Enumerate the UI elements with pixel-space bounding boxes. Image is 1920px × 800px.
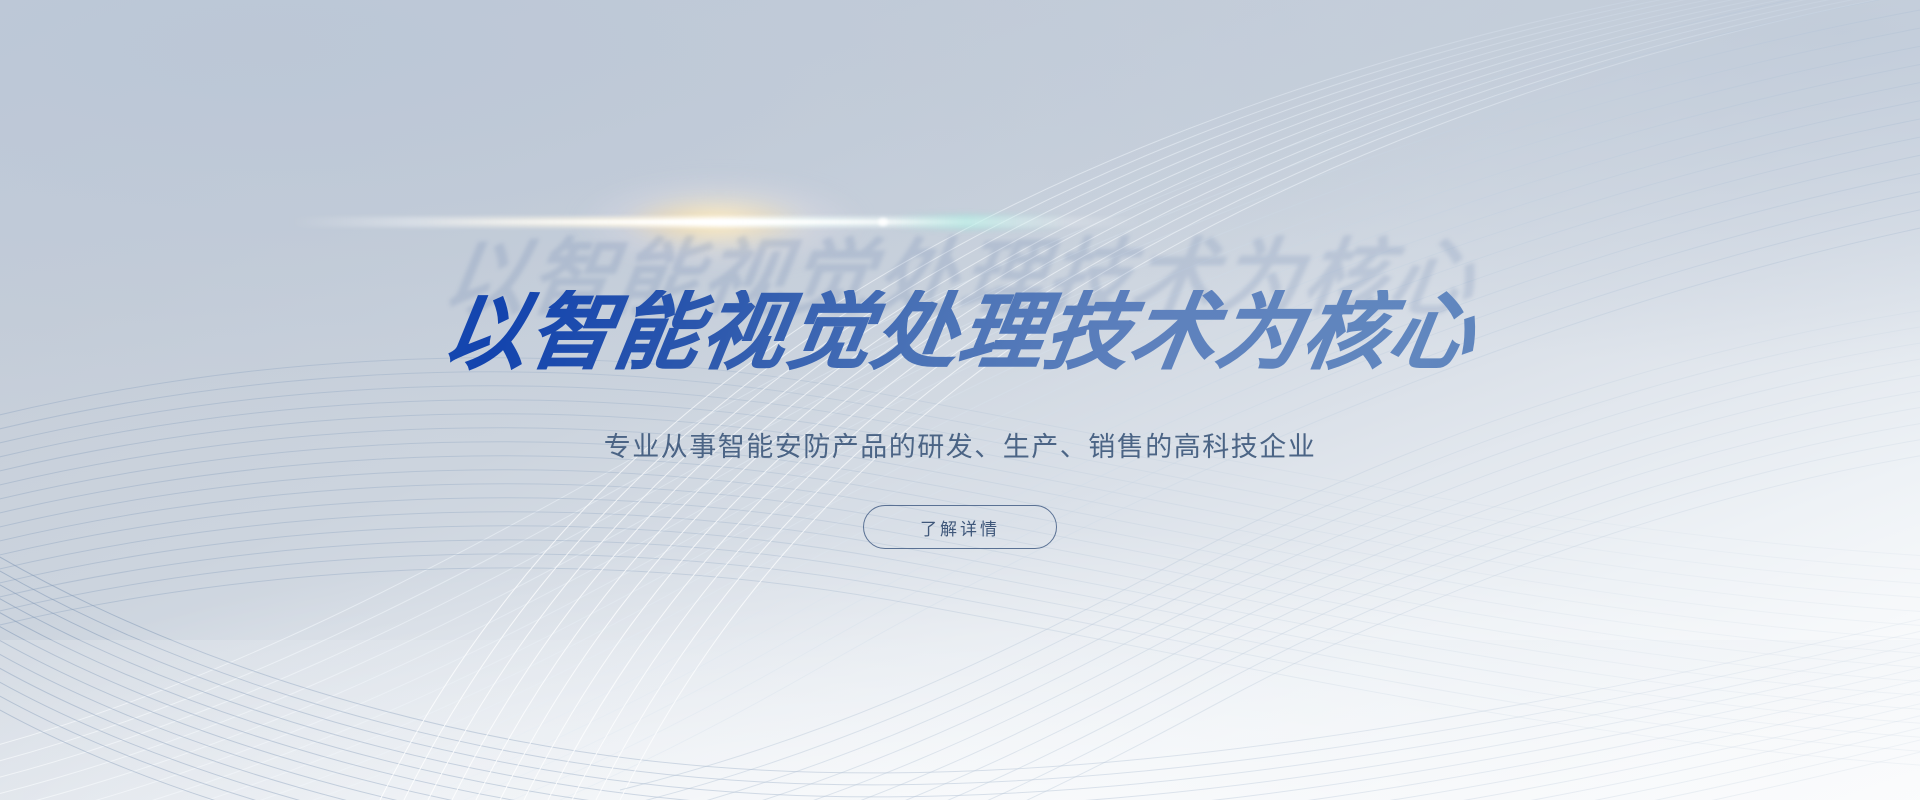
hero-banner: 以智能视觉处理技术为核心 以智能视觉处理技术为核心 专业从事智能安防产品的研发、… <box>0 0 1920 800</box>
hero-headline: 以智能视觉处理技术为核心 <box>0 290 1920 376</box>
hero-subtitle: 专业从事智能安防产品的研发、生产、销售的高科技企业 <box>0 425 1920 464</box>
wave-line-decoration <box>0 0 1920 800</box>
learn-more-button[interactable]: 了解详情 <box>863 505 1057 549</box>
